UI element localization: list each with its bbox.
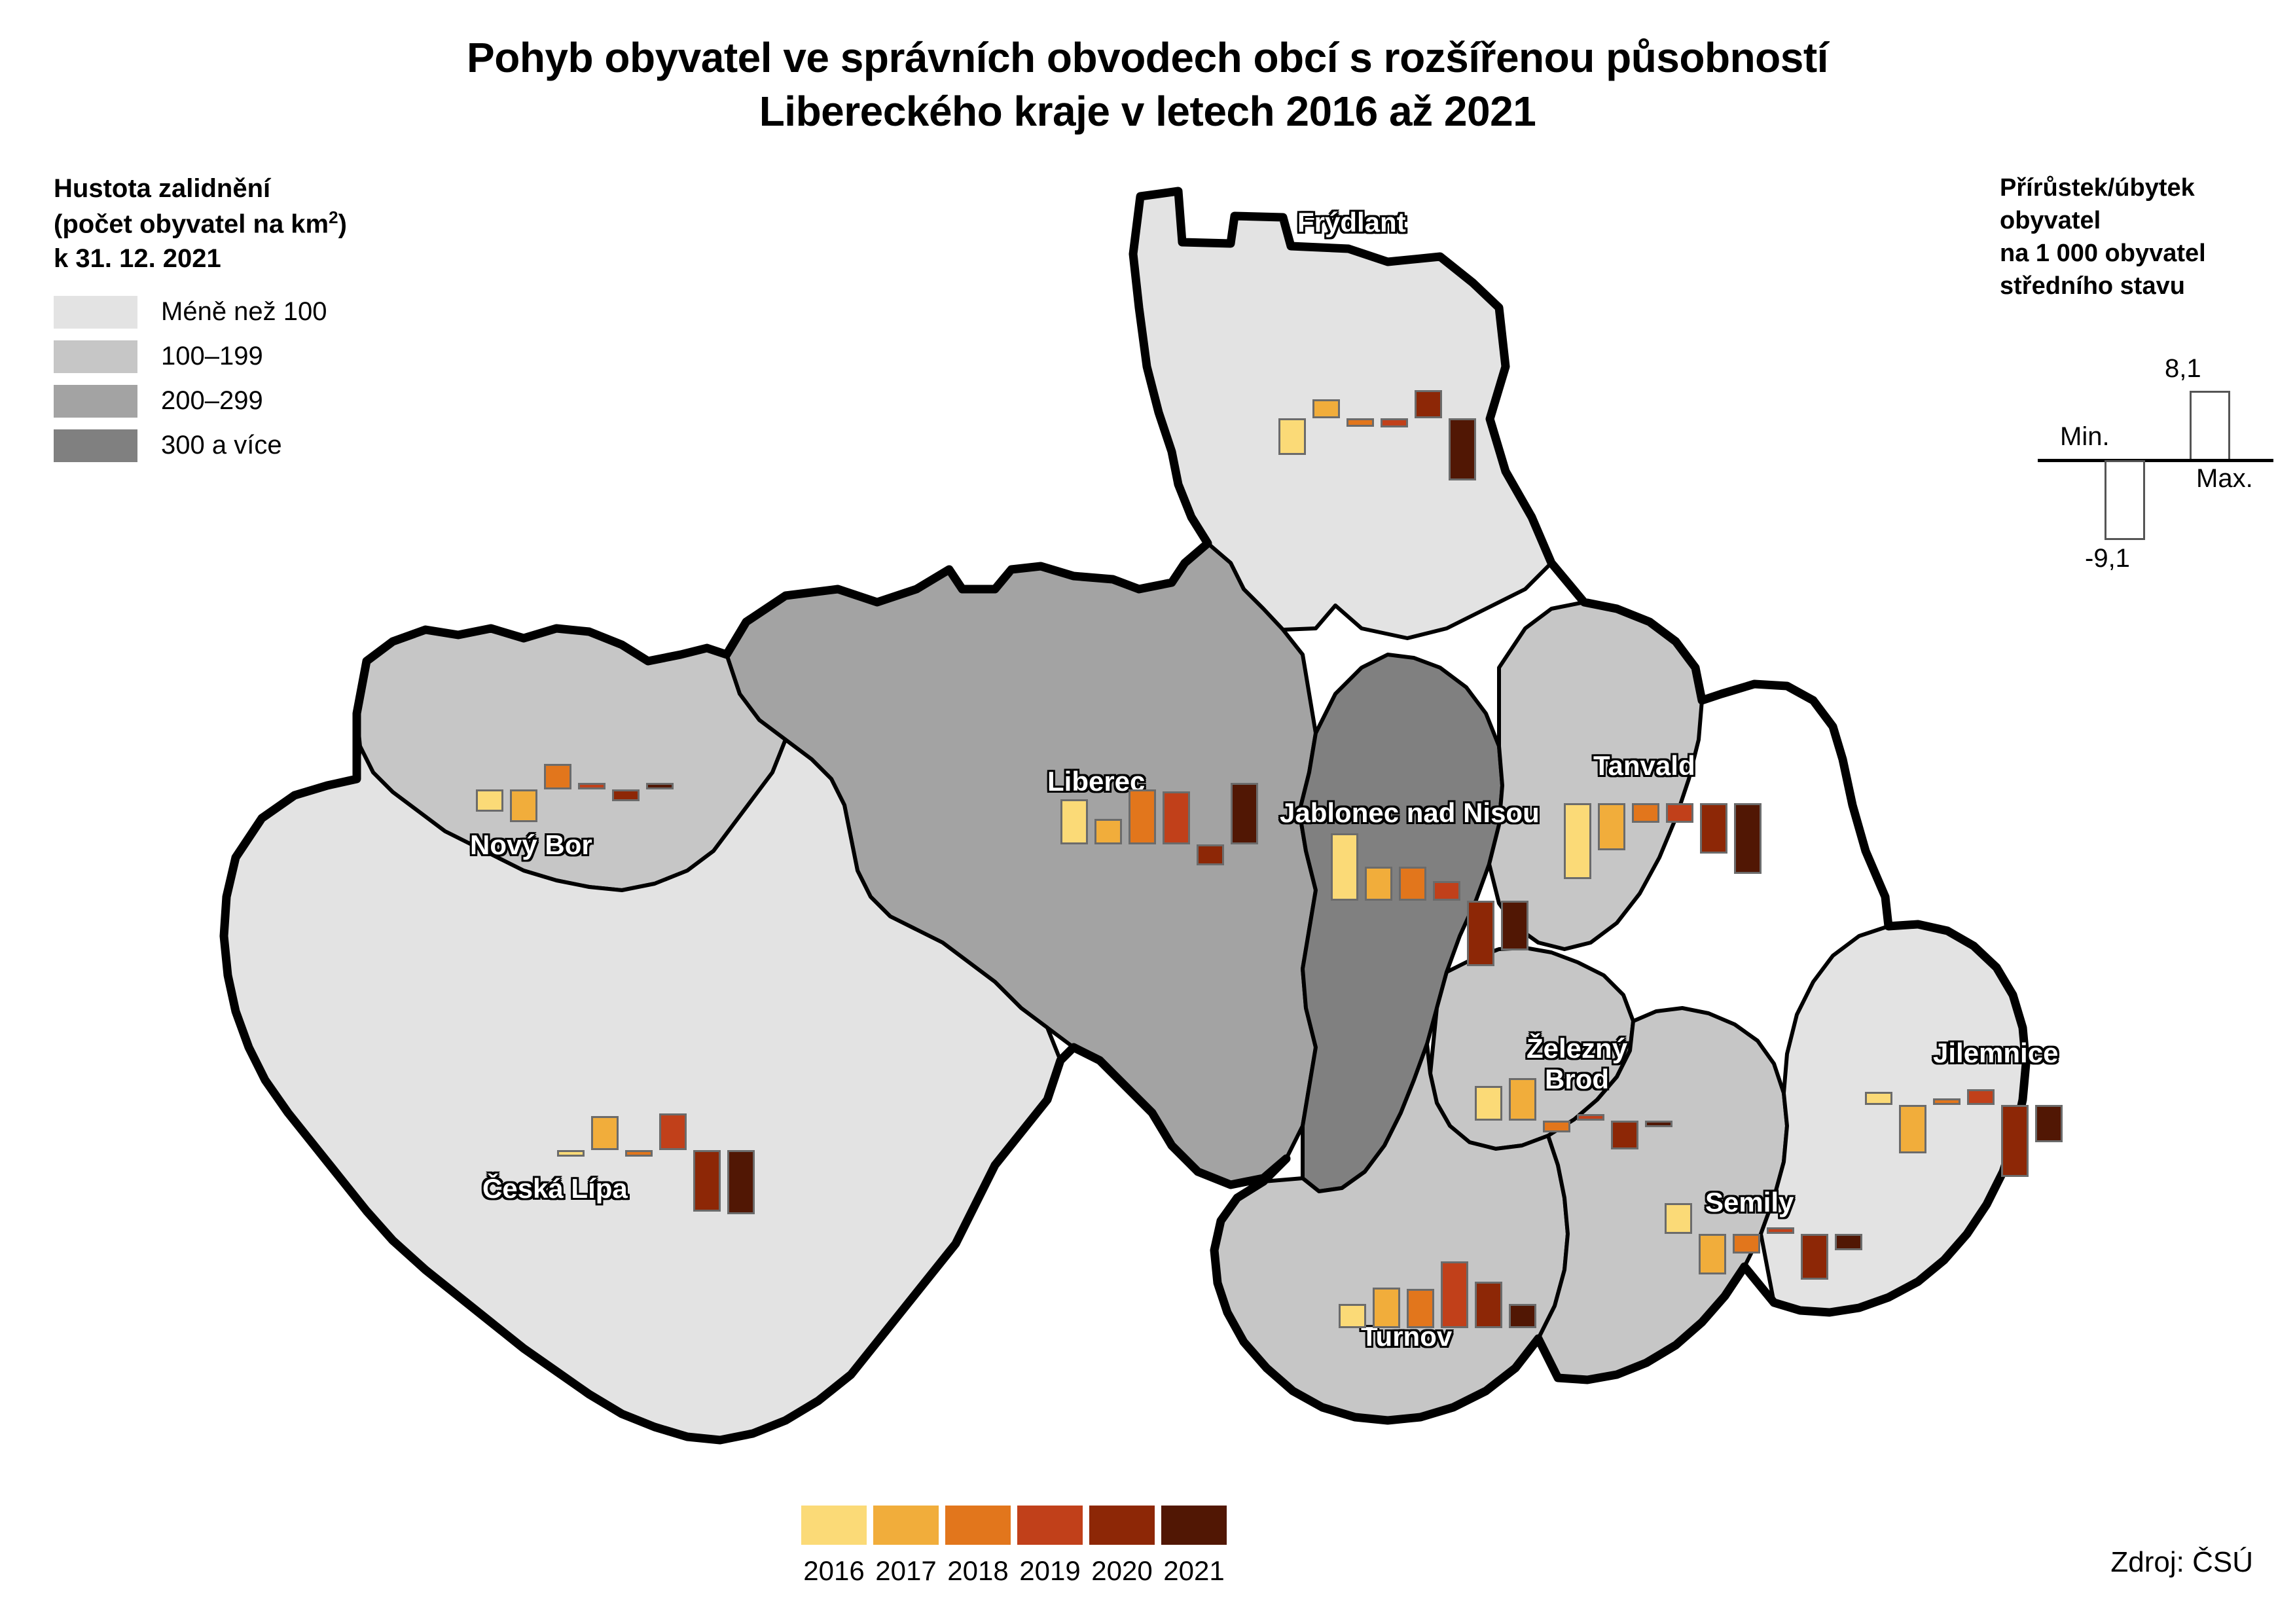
bar-nov-bor-2019: [578, 783, 605, 789]
year-swatch: [945, 1506, 1011, 1545]
bar-tanvald-2017: [1598, 803, 1625, 850]
year-legend-item: 2017: [873, 1506, 939, 1587]
bar-liberec-2020: [1197, 844, 1224, 865]
year-legend: 201620172018201920202021: [801, 1506, 1233, 1587]
year-legend-item: 2019: [1017, 1506, 1083, 1587]
district-label-nov-bor: Nový Bor: [470, 829, 592, 860]
year-legend-item: 2016: [801, 1506, 867, 1587]
bar-semily-2017: [1699, 1234, 1726, 1274]
bar-fr-dlant-2019: [1381, 418, 1408, 427]
year-label: 2017: [873, 1555, 939, 1587]
bar-liberec-2018: [1129, 789, 1156, 844]
bar-semily-2016: [1665, 1203, 1692, 1234]
year-swatch: [873, 1506, 939, 1545]
bar-turnov-2018: [1407, 1289, 1434, 1328]
bar-jilemnice-2021: [2035, 1105, 2063, 1142]
district-label-jilemnice: Jilemnice: [1933, 1038, 2058, 1068]
bar-turnov-2021: [1509, 1304, 1536, 1328]
district-label-line: Nový Bor: [470, 829, 592, 860]
bar-semily-2020: [1801, 1234, 1828, 1280]
district-label-jablonec-nad-nisou: Jablonec nad Nisou: [1280, 797, 1540, 828]
year-label: 2021: [1161, 1555, 1227, 1587]
year-swatch: [1089, 1506, 1155, 1545]
year-legend-item: 2018: [945, 1506, 1011, 1587]
bar-jilemnice-2016: [1865, 1092, 1892, 1105]
bar-esk-l-pa-2019: [659, 1113, 687, 1150]
district-label-line: Česká Lípa: [482, 1173, 628, 1204]
bar-fr-dlant-2020: [1415, 390, 1442, 418]
year-legend-item: 2021: [1161, 1506, 1227, 1587]
bar-jilemnice-2018: [1933, 1098, 1961, 1105]
year-swatch: [801, 1506, 867, 1545]
bar-esk-l-pa-2021: [727, 1150, 755, 1214]
source-note: Zdroj: ČSÚ: [2110, 1546, 2253, 1579]
bar-fr-dlant-2017: [1312, 399, 1340, 418]
bar-elezn-brod-2016: [1475, 1086, 1502, 1121]
district-label-elezn-brod: ŽeleznýBrod: [1527, 1033, 1627, 1094]
bar-nov-bor-2017: [510, 789, 537, 822]
bar-elezn-brod-2017: [1509, 1078, 1536, 1121]
district-label-fr-dlant: Frýdlant: [1297, 207, 1406, 238]
bar-tanvald-2016: [1564, 803, 1591, 879]
bar-turnov-2019: [1441, 1261, 1468, 1328]
bar-turnov-2016: [1339, 1304, 1366, 1328]
district-label-line: Tanvald: [1593, 750, 1695, 781]
year-label: 2016: [801, 1555, 867, 1587]
bar-jablonec-nad-nisou-2018: [1399, 867, 1426, 901]
bar-nov-bor-2018: [544, 764, 571, 789]
bar-elezn-brod-2020: [1611, 1121, 1638, 1149]
bar-liberec-2016: [1060, 799, 1088, 844]
bar-jablonec-nad-nisou-2021: [1501, 901, 1528, 950]
bar-esk-l-pa-2016: [557, 1150, 585, 1157]
bar-turnov-2020: [1475, 1282, 1502, 1328]
map-container: FrýdlantNový BorLiberecČeská LípaJablone…: [0, 0, 2295, 1624]
bar-tanvald-2021: [1734, 803, 1762, 874]
district-label-line: Jilemnice: [1933, 1038, 2058, 1068]
year-swatch: [1161, 1506, 1227, 1545]
year-label: 2019: [1017, 1555, 1083, 1587]
year-legend-item: 2020: [1089, 1506, 1155, 1587]
bar-liberec-2017: [1094, 819, 1122, 844]
bar-elezn-brod-2018: [1543, 1121, 1570, 1132]
bar-fr-dlant-2021: [1449, 418, 1476, 480]
bar-nov-bor-2016: [476, 789, 503, 812]
bar-esk-l-pa-2020: [693, 1150, 721, 1212]
bar-fr-dlant-2016: [1278, 418, 1306, 455]
bar-elezn-brod-2019: [1577, 1114, 1604, 1121]
bar-semily-2019: [1767, 1227, 1794, 1234]
year-label: 2020: [1089, 1555, 1155, 1587]
bar-jilemnice-2020: [2001, 1105, 2029, 1177]
bar-tanvald-2020: [1700, 803, 1727, 854]
bar-nov-bor-2020: [612, 789, 640, 801]
bar-jablonec-nad-nisou-2017: [1365, 867, 1392, 901]
bar-nov-bor-2021: [646, 783, 674, 789]
bar-jablonec-nad-nisou-2016: [1331, 833, 1358, 901]
bar-semily-2018: [1733, 1234, 1760, 1254]
bar-esk-l-pa-2018: [625, 1150, 653, 1157]
bar-turnov-2017: [1373, 1288, 1400, 1328]
district-label-line: Jablonec nad Nisou: [1280, 797, 1540, 828]
bar-jilemnice-2019: [1967, 1089, 1995, 1105]
district-label-line: Semily: [1705, 1187, 1794, 1218]
district-label-line: Železný: [1527, 1033, 1627, 1064]
bar-jilemnice-2017: [1899, 1105, 1926, 1153]
bar-tanvald-2019: [1666, 803, 1693, 823]
district-label-semily: Semily: [1705, 1187, 1794, 1218]
bar-jablonec-nad-nisou-2019: [1433, 881, 1460, 901]
bar-elezn-brod-2021: [1645, 1121, 1672, 1127]
year-label: 2018: [945, 1555, 1011, 1587]
district-label-esk-l-pa: Česká Lípa: [482, 1173, 628, 1204]
bar-fr-dlant-2018: [1346, 418, 1374, 427]
district-label-line: Brod: [1527, 1064, 1627, 1094]
bar-tanvald-2018: [1632, 803, 1659, 823]
district-label-line: Frýdlant: [1297, 207, 1406, 238]
bar-jablonec-nad-nisou-2020: [1467, 901, 1494, 966]
year-swatch: [1017, 1506, 1083, 1545]
bar-liberec-2019: [1163, 791, 1190, 844]
bar-esk-l-pa-2017: [591, 1116, 619, 1150]
bar-semily-2021: [1835, 1234, 1862, 1250]
bar-liberec-2021: [1231, 783, 1258, 844]
district-label-tanvald: Tanvald: [1593, 750, 1695, 781]
